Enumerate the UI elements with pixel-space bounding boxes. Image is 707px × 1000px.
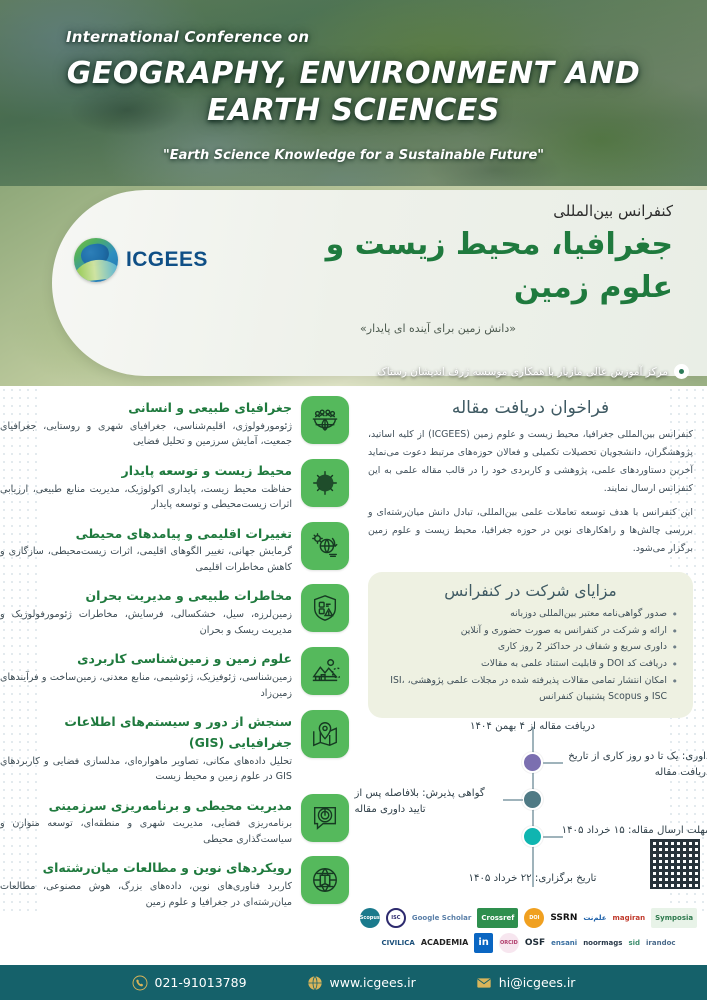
brand-title: جغرافیا، محیط زیست و علوم زمین bbox=[203, 224, 673, 309]
topic-item: مدیریت محیطی و برنامه‌ریزی سرزمینی برنام… bbox=[0, 794, 349, 848]
topic-item: محیط زیست و توسعه پایدار حفاظت محیط زیست… bbox=[0, 459, 349, 513]
brand-kicker: کنفرانس بین‌المللی bbox=[553, 202, 673, 220]
topic-desc: تحلیل داده‌های مکانی، تصاویر ماهواره‌ای،… bbox=[0, 754, 292, 785]
footer-website[interactable]: www.icgees.ir bbox=[307, 975, 416, 991]
footer-website-text: www.icgees.ir bbox=[330, 975, 416, 990]
eco-earth-icon bbox=[301, 459, 349, 507]
footer-email-text: hi@icgees.ir bbox=[499, 975, 576, 990]
hero-banner: International Conference on GEOGRAPHY, E… bbox=[0, 0, 707, 200]
planning-target-icon bbox=[301, 794, 349, 842]
topic-desc: زمین‌شناسی، ژئوفیزیک، ژئوشیمی، منابع معد… bbox=[0, 670, 292, 701]
partner-row-1: Scopus ISC Google Scholar Crossref DOI S… bbox=[358, 908, 699, 928]
hero-tagline: "Earth Science Knowledge for a Sustainab… bbox=[0, 148, 707, 163]
timeline-label-1: داوری: یک تا دو روز کاری از تاریخ دریافت… bbox=[561, 749, 707, 782]
partner-logo: علم‌نت bbox=[583, 908, 606, 928]
icgees-logo-text: ICGEES bbox=[126, 248, 208, 272]
topic-item: رویکردهای نوین و مطالعات میان‌رشته‌ای کا… bbox=[0, 856, 349, 910]
poster-body: جغرافیای طبیعی و انسانی ژئومورفولوژی، اق… bbox=[0, 386, 707, 965]
call-for-papers-column: فراخوان دریافت مقاله کنفرانس بین‌المللی … bbox=[358, 394, 707, 718]
partner-logo: ISC bbox=[386, 908, 406, 928]
topic-item: جغرافیای طبیعی و انسانی ژئومورفولوژی، اق… bbox=[0, 396, 349, 450]
timeline: دریافت مقاله از ۴ بهمن ۱۴۰۴ داوری: یک تا… bbox=[358, 719, 707, 904]
partner-logo: Symposia bbox=[651, 908, 697, 928]
topics-list: جغرافیای طبیعی و انسانی ژئومورفولوژی، اق… bbox=[0, 396, 349, 919]
partner-logo: SSRN bbox=[550, 908, 577, 928]
topic-title: جغرافیای طبیعی و انسانی bbox=[128, 400, 292, 415]
topic-item: تغییرات اقلیمی و پیامدهای محیطی گرمایش ج… bbox=[0, 522, 349, 576]
conference-poster: International Conference on GEOGRAPHY, E… bbox=[0, 0, 707, 1000]
partner-logo: sid bbox=[628, 933, 640, 953]
hero-pre-title: International Conference on bbox=[66, 28, 309, 46]
partner-logo: Scopus bbox=[360, 908, 380, 928]
phone-icon bbox=[132, 975, 148, 991]
topic-item: علوم زمین و زمین‌شناسی کاربردی زمین‌شناس… bbox=[0, 647, 349, 701]
hero-title: GEOGRAPHY, ENVIRONMENT AND EARTH SCIENCE… bbox=[0, 56, 707, 129]
partner-logos: Scopus ISC Google Scholar Crossref DOI S… bbox=[358, 899, 699, 961]
topic-title: تغییرات اقلیمی و پیامدهای محیطی bbox=[76, 526, 292, 541]
topic-title: مدیریت محیطی و برنامه‌ریزی سرزمینی bbox=[49, 798, 292, 813]
people-globe-icon bbox=[301, 396, 349, 444]
partner-logo: noormags bbox=[583, 933, 622, 953]
climate-change-icon bbox=[301, 522, 349, 570]
partner-logo: Crossref bbox=[477, 908, 518, 928]
benefit-item: دریافت کد DOI و قابلیت استناد علمی به مق… bbox=[382, 656, 679, 673]
topic-title: مخاطرات طبیعی و مدیریت بحران bbox=[86, 588, 292, 603]
timeline-connector-1 bbox=[543, 762, 563, 764]
partner-logo: DOI bbox=[524, 908, 544, 928]
benefit-item: داوری سریع و شفاف در حداکثر 2 روز کاری bbox=[382, 639, 679, 656]
footer-phone[interactable]: 021-91013789 bbox=[132, 975, 247, 991]
timeline-dot-3 bbox=[522, 826, 543, 847]
topic-title: محیط زیست و توسعه پایدار bbox=[122, 463, 293, 478]
benefit-item: ارائه و شرکت در کنفرانس به صورت حضوری و … bbox=[382, 623, 679, 640]
timeline-connector-2 bbox=[503, 799, 523, 801]
benefits-box: مزایای شرکت در کنفرانس صدور گواهی‌نامه م… bbox=[368, 572, 693, 717]
brand-band: ICGEES کنفرانس بین‌المللی جغرافیا، محیط … bbox=[52, 190, 707, 376]
venue-text: مرکز آموزش عالی مازیار با همکاری موسسه ژ… bbox=[377, 366, 668, 378]
icgees-logo: ICGEES bbox=[74, 238, 208, 282]
partner-row-2: CIVILICA ACADEMIA in ORCID OSF ensani no… bbox=[358, 933, 699, 953]
topic-desc: حفاظت محیط زیست، پایداری اکولوژیک، مدیری… bbox=[0, 482, 292, 513]
call-paragraph-1: کنفرانس بین‌المللی جغرافیا، محیط زیست و … bbox=[368, 426, 693, 498]
timeline-label-2: گواهی پذیرش: بلافاصله پس از تایید داوری … bbox=[355, 786, 505, 819]
qr-code[interactable] bbox=[648, 837, 702, 891]
topic-desc: ژئومورفولوژی، اقلیم‌شناسی، جغرافیای شهری… bbox=[0, 419, 292, 450]
topic-title: رویکردهای نوین و مطالعات میان‌رشته‌ای bbox=[43, 860, 292, 875]
location-pin-icon bbox=[674, 364, 689, 379]
partner-logo: CIVILICA bbox=[381, 933, 414, 953]
footer-phone-text: 021-91013789 bbox=[155, 975, 247, 990]
partner-logo: ORCID bbox=[499, 933, 519, 953]
topic-title: سنجش از دور و سیستم‌های اطلاعات جغرافیای… bbox=[64, 714, 292, 750]
book-globe-icon bbox=[301, 856, 349, 904]
map-pin-icon bbox=[301, 710, 349, 758]
geology-survey-icon bbox=[301, 647, 349, 695]
partner-logo: magiran bbox=[613, 908, 646, 928]
topic-desc: کاربرد فناوری‌های نوین، داده‌های بزرگ، ه… bbox=[0, 879, 292, 910]
benefit-item: صدور گواهی‌نامه معتبر بین‌المللی دوزبانه bbox=[382, 606, 679, 623]
call-paragraph-2: این کنفرانس با هدف توسعه تعاملات علمی بی… bbox=[368, 504, 693, 558]
brand-slogan: «دانش زمین برای آینده ای پایدار» bbox=[203, 322, 673, 335]
topic-desc: برنامه‌ریزی فضایی، مدیریت شهری و منطقه‌ا… bbox=[0, 816, 292, 847]
hero-title-line2: EARTH SCIENCES bbox=[207, 93, 500, 128]
shield-hazard-icon bbox=[301, 584, 349, 632]
hero-title-line1: GEOGRAPHY, ENVIRONMENT AND bbox=[67, 56, 641, 91]
venue-line: مرکز آموزش عالی مازیار با همکاری موسسه ژ… bbox=[377, 364, 689, 379]
topic-desc: گرمایش جهانی، تغییر الگوهای اقلیمی، اثرا… bbox=[0, 544, 292, 575]
topic-desc: زمین‌لرزه، سیل، خشکسالی، فرسایش، مخاطرات… bbox=[0, 607, 292, 638]
partner-logo: ACADEMIA bbox=[421, 933, 469, 953]
brand-title-line2: علوم زمین bbox=[203, 267, 673, 310]
globe-icon bbox=[307, 975, 323, 991]
brand-title-line1: جغرافیا، محیط زیست و bbox=[326, 227, 673, 262]
topic-item: سنجش از دور و سیستم‌های اطلاعات جغرافیای… bbox=[0, 710, 349, 785]
partner-logo: irandoc bbox=[646, 933, 676, 953]
call-for-papers-heading: فراخوان دریافت مقاله bbox=[368, 398, 693, 418]
partner-logo: Google Scholar bbox=[412, 908, 472, 928]
benefits-heading: مزایای شرکت در کنفرانس bbox=[382, 582, 679, 600]
footer-bar: 021-91013789 www.icgees.ir hi@icgees.ir bbox=[0, 965, 707, 1000]
timeline-dot-2 bbox=[522, 789, 543, 810]
footer-email[interactable]: hi@icgees.ir bbox=[476, 975, 576, 991]
benefits-list: صدور گواهی‌نامه معتبر بین‌المللی دوزبانه… bbox=[382, 606, 679, 705]
hero-text-block: International Conference on GEOGRAPHY, E… bbox=[0, 0, 707, 200]
timeline-top-label: دریافت مقاله از ۴ بهمن ۱۴۰۴ bbox=[358, 719, 707, 735]
partner-logo: ensani bbox=[551, 933, 577, 953]
globe-logo-icon bbox=[74, 238, 118, 282]
timeline-connector-3 bbox=[543, 836, 563, 838]
timeline-dot-1 bbox=[522, 752, 543, 773]
envelope-icon bbox=[476, 975, 492, 991]
topic-title: علوم زمین و زمین‌شناسی کاربردی bbox=[77, 651, 292, 666]
partner-logo: OSF bbox=[525, 933, 545, 953]
benefit-item: امکان انتشار تمامی مقالات پذیرفته شده در… bbox=[382, 673, 679, 706]
partner-logo: in bbox=[474, 933, 493, 953]
topic-item: مخاطرات طبیعی و مدیریت بحران زمین‌لرزه، … bbox=[0, 584, 349, 638]
